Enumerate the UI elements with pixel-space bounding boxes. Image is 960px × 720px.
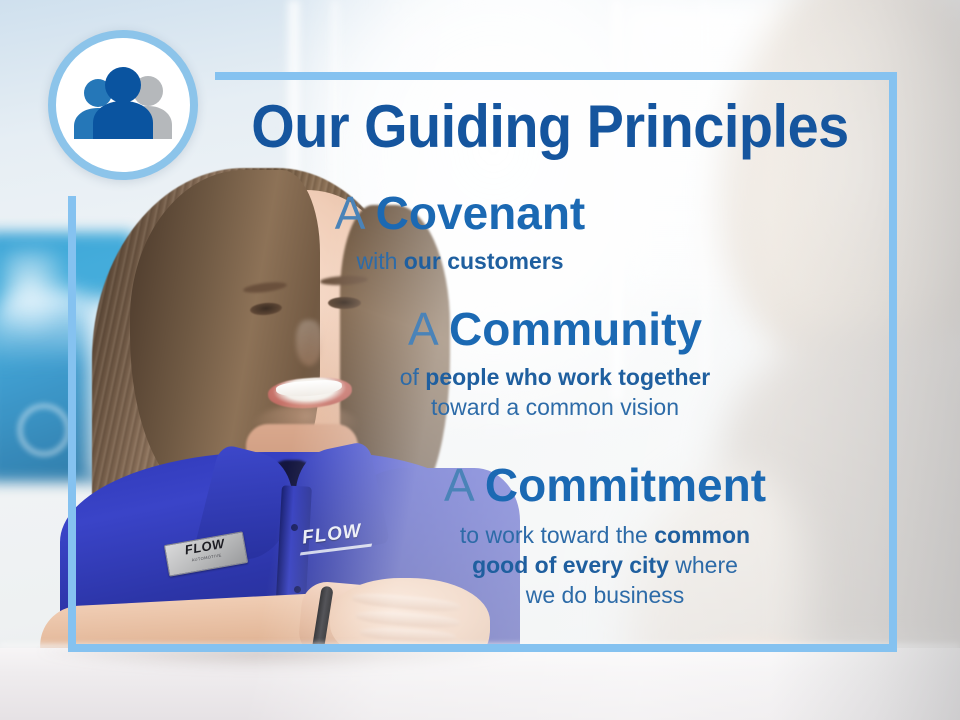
principle-headline: A Covenant — [240, 186, 680, 240]
principle-headline: A Commitment — [330, 458, 880, 512]
plain-text: to work toward the — [460, 522, 654, 548]
principle-block-community: A Community of people who work togethert… — [300, 302, 810, 422]
principle-subline: with our customers — [240, 246, 680, 276]
plain-text: with — [356, 248, 403, 274]
principle-keyword: Community — [449, 303, 702, 355]
emphasis-text: people who work together — [425, 364, 710, 390]
principle-keyword: Commitment — [485, 459, 766, 511]
frame-border-bottom — [68, 644, 897, 652]
emphasis-text: good of every city — [472, 552, 669, 578]
frame-border-top — [215, 72, 897, 80]
shirt-button — [294, 586, 301, 593]
principle-headline: A Community — [300, 302, 810, 356]
page-title: Our Guiding Principles — [243, 96, 857, 158]
frame-border-left-taper — [68, 196, 76, 210]
plain-text: toward a common vision — [431, 394, 679, 420]
showroom-display-logo — [18, 404, 70, 456]
frame-border-right — [889, 72, 897, 652]
plain-text: we do business — [526, 582, 685, 608]
principle-article: A — [444, 459, 472, 511]
principle-block-commitment: A Commitment to work toward the commongo… — [330, 458, 880, 610]
principle-subline: of people who work togethertoward a comm… — [300, 362, 810, 422]
guiding-principles-graphic: FLOW AUTOMOTIVE FLOW — [0, 0, 960, 720]
people-group-icon — [69, 67, 177, 143]
principle-article: A — [408, 303, 436, 355]
plain-text: where — [669, 552, 738, 578]
people-group-icon-badge — [48, 30, 198, 180]
plain-text: of — [400, 364, 426, 390]
frame-border-top-taper — [215, 72, 231, 80]
shirt-button — [291, 524, 298, 531]
emphasis-text: common — [654, 522, 750, 548]
emphasis-text: our customers — [404, 248, 564, 274]
principle-subline: to work toward the commongood of every c… — [330, 520, 880, 610]
principle-article: A — [335, 187, 363, 239]
principle-keyword: Covenant — [376, 187, 586, 239]
showroom-display-highlight — [2, 250, 72, 340]
principle-block-covenant: A Covenant with our customers — [240, 186, 680, 276]
frame-border-left — [68, 196, 76, 652]
